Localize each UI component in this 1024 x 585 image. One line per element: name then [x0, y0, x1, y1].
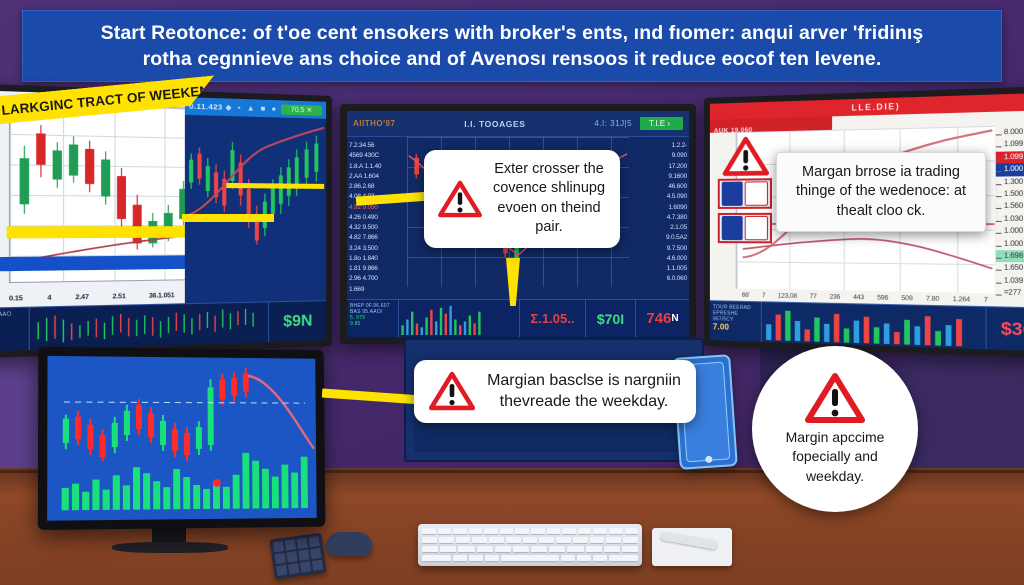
ladder-row: 2.AA 1.604 — [349, 172, 409, 182]
ladder-row: 9.090 — [631, 151, 687, 161]
warning-triangle-icon — [438, 180, 482, 218]
ladder-row: 1.8o 1.840 — [349, 254, 409, 264]
toolbar-icons: ◆ • ▲ ■ ● — [226, 103, 279, 114]
ladder-row: 46.600 — [631, 182, 687, 192]
ticker-volume-bars — [762, 302, 986, 349]
ticker-value: $9N — [268, 301, 326, 342]
axis-tick: 123,08 — [778, 292, 797, 300]
headline-line-2: rotha cegnnieve ans choice and of Avenos… — [101, 46, 924, 72]
ladder-row: 4.82 7.866 — [349, 233, 409, 243]
warning-triangle-icon — [428, 371, 476, 411]
volume-bars — [399, 300, 519, 337]
axis-tick: 0.15 — [9, 295, 23, 303]
ladder-row: 1.81 9.866 — [349, 264, 409, 274]
ticker-badge-line-4: 7.00 — [713, 322, 758, 332]
axis-tick-current: 1.000 — [996, 163, 1024, 176]
axis-tick: 1.039 — [996, 275, 1024, 288]
ladder-row: 9.7.500 — [631, 244, 687, 254]
keyboard-row — [422, 546, 638, 553]
header-title: I.I. TOOAGES — [403, 119, 586, 129]
ticker-value-2-number: 746 — [646, 310, 671, 327]
axis-tick: 4 — [47, 294, 51, 302]
axis-tick: 36.1.051 — [149, 292, 175, 300]
axis-tick: 7.80 — [926, 295, 939, 303]
axis-tick: 596 — [877, 294, 888, 302]
right-app-header: LLE.DIE) — [710, 92, 1024, 119]
ticker-badge-line-2: CVIL 03/95 — [0, 318, 25, 326]
left-ticker-strip: 4TARS 0A AAO CVIL 03/95 — [0, 300, 326, 352]
axis-tick: 66' — [742, 291, 750, 298]
ladder-row: 2.86.2.68 — [349, 182, 409, 192]
volume-bars — [762, 302, 986, 349]
ladder-row: 4.26 0.490 — [349, 213, 409, 223]
ladder-row: 3.24 3.500 — [349, 244, 409, 254]
ticker-mini-chart — [30, 302, 268, 350]
ladder-row-highlight: 4569 430C — [349, 152, 379, 159]
axis-tick: 1.030 — [996, 213, 1024, 226]
header-action-button[interactable]: T.I.E › — [640, 117, 683, 130]
ladder-row: 17.200 — [631, 162, 687, 172]
ladder-row: 9.0.5A2 — [631, 233, 687, 243]
callout-circle: Margin apccime fopecially and weekday. — [752, 346, 918, 512]
left-secondary-chart-panel: 0.11.423 ◆ • ▲ ■ ● 70.5 ✕ — [185, 97, 326, 303]
ticker-value-1: $70I — [585, 300, 635, 337]
callout-right: Margan brrose ia trading thinge of the w… — [776, 152, 986, 232]
center-app-header: AIITHO'97 I.I. TOOAGES 4.I: 31J|5 T.I.E … — [347, 111, 689, 137]
badge-icon-label — [722, 216, 743, 240]
keyboard-row — [422, 528, 638, 535]
axis-tick: 1.560 — [996, 201, 1024, 214]
header-timestamp: 4.I: 31J|5 — [594, 119, 632, 128]
right-ticker-strip: TOUR BEERAD EPRESHE 967/5CY 7.00 — [710, 300, 1024, 351]
smartphone-home-button[interactable] — [705, 456, 712, 463]
ticker-badge: BHEP 0F.96.607 BAS 95.AAO/ 5. 979 9.85 — [347, 300, 399, 337]
axis-tick: 1.000 — [996, 226, 1024, 239]
axis-tick: 509 — [901, 294, 912, 302]
screen-left: 5.96.05 75.3/86 7.7.200 4.5.7.26 7.43,25… — [0, 90, 326, 352]
trading-desk-illustration: Start Reotonce: of t'oe cent ensokers wi… — [0, 0, 1024, 585]
headline-text: Start Reotonce: of t'oe cent ensokers wi… — [101, 20, 924, 73]
headline-line-1: Start Reotonce: of t'oe cent ensokers wi… — [101, 20, 924, 46]
monitor-base — [112, 542, 228, 553]
ticker-sparkline — [30, 302, 268, 350]
axis-tick: 2.47 — [75, 294, 88, 302]
ladder-row: 9.1600 — [631, 172, 687, 182]
keyboard-row — [422, 537, 638, 544]
right-chart-y-axis: 8.000 1.099 1.099 1.000 1.300 1.500 1.56… — [996, 125, 1024, 300]
badge-icon-flask — [722, 182, 743, 206]
callout-right-text: Margan brrose ia trading thinge of the w… — [791, 163, 971, 221]
warning-triangle-icon-svg — [721, 135, 771, 176]
ticker-badge: 4TARS 0A AAO CVIL 03/95 — [0, 308, 30, 352]
axis-tick: 1.000 — [996, 238, 1024, 251]
ticker-volume-bars — [399, 300, 519, 337]
panel-title: 0.11.423 — [189, 101, 223, 111]
ticker-badge: TOUR BEERAD EPRESHE 967/5CY 7.00 — [710, 301, 762, 342]
ticker-value-2-suffix: N — [671, 313, 678, 324]
ticker-value-2: 746N — [635, 300, 689, 337]
close-button[interactable]: 70.5 ✕ — [281, 104, 322, 115]
ladder-row: 2.1.05 — [631, 223, 687, 233]
ticker-value-number: $36 — [1001, 318, 1024, 341]
ladder-row: 2.96 4.700 — [349, 274, 409, 284]
mousepad — [652, 528, 732, 566]
ladder-row: 6.0.060 — [631, 274, 687, 284]
callout-center: Exter crosser the covence shlinupg evoen… — [424, 150, 620, 248]
axis-tick: 1.300 — [996, 176, 1024, 189]
ladder-row: 4.6.000 — [631, 254, 687, 264]
bottom-left-chart — [47, 356, 317, 521]
ladder-row: 1.1.005 — [631, 264, 687, 274]
screen-bottom-left — [47, 356, 317, 521]
monitor-bottom-left — [38, 347, 326, 530]
ladder-row: 1.8.A 1.1.40 — [349, 162, 409, 172]
axis-tick: 1.264 — [953, 295, 970, 303]
keyboard-row — [422, 555, 638, 562]
center-ticker-strip: BHEP 0F.96.607 BAS 95.AAO/ 5. 979 9.85 — [347, 299, 689, 337]
header-symbol: AIITHO'97 — [353, 119, 395, 128]
center-price-ladder-left: 7.2.34.56 4569 430C 1.8.A 1.1.40 2.AA 1.… — [349, 141, 409, 295]
ladder-row: 4.32 9.500 — [349, 223, 409, 233]
axis-tick: 7 — [762, 292, 765, 299]
ladder-row: 1.2.2- — [631, 141, 687, 151]
headline-banner: Start Reotonce: of t'oe cent ensokers wi… — [22, 10, 1002, 82]
keyboard-rows — [422, 528, 638, 562]
right-header-title: LLE.DIE) — [851, 101, 900, 112]
axis-tick-alert: 1.099 — [996, 150, 1024, 163]
ticker-value: $36N — [986, 307, 1024, 351]
monitor-left: 5.96.05 75.3/86 7.7.200 4.5.7.26 7.43,25… — [0, 83, 332, 359]
calculator[interactable] — [269, 533, 326, 580]
badge-icon-alert — [745, 181, 768, 206]
axis-tick: 1.500 — [996, 188, 1024, 201]
ticker-change: Σ.1.05.. — [519, 300, 585, 337]
ladder-row: 4.5.090 — [631, 192, 687, 202]
axis-tick: 77 — [810, 293, 817, 300]
ladder-row: 1.6090 — [631, 203, 687, 213]
calculator-keypad[interactable] — [273, 536, 323, 576]
right-side-badges — [718, 138, 772, 247]
axis-tick: =277 — [996, 287, 1024, 300]
axis-tick: 2.51 — [113, 293, 126, 301]
badge-icon-warning — [745, 216, 768, 240]
left-secondary-chart-candles — [185, 116, 326, 262]
axis-tick: 236 — [829, 293, 840, 300]
warning-triangle-icon — [804, 372, 866, 424]
badge-tile-2 — [718, 213, 772, 244]
callout-bottom-text: Margian basclse is nargniin thevreade th… — [486, 370, 682, 413]
ladder-row: 4.7.380 — [631, 213, 687, 223]
computer-mouse[interactable] — [326, 532, 372, 556]
pointer-left-highlight — [182, 214, 274, 222]
axis-tick: 443 — [853, 293, 864, 301]
callout-center-text: Exter crosser the covence shlinupg evoen… — [492, 160, 606, 238]
axis-tick: 7 — [984, 296, 988, 304]
callout-bottom: Margian basclse is nargniin thevreade th… — [414, 360, 696, 423]
ticker-badge-line-4: 9.85 — [350, 321, 395, 327]
callout-circle-text: Margin apccime fopecially and weekday. — [766, 428, 904, 485]
stylus-pen[interactable] — [660, 531, 719, 550]
keyboard[interactable] — [418, 524, 642, 566]
axis-tick: 1.650 — [996, 263, 1024, 276]
badge-tile-1 — [718, 178, 772, 209]
warning-triangle-icon — [718, 138, 774, 173]
axis-tick: 8.000 — [996, 125, 1024, 139]
axis-tick: 1.099 — [996, 138, 1024, 152]
ladder-row: 1.669 — [349, 285, 409, 295]
center-price-ladder-right: 1.2.2- 9.090 17.200 9.1600 46.600 4.5.09… — [631, 141, 687, 285]
axis-tick-target: 1.698 — [996, 250, 1024, 263]
ladder-row: 7.2.34.56 — [349, 141, 409, 151]
